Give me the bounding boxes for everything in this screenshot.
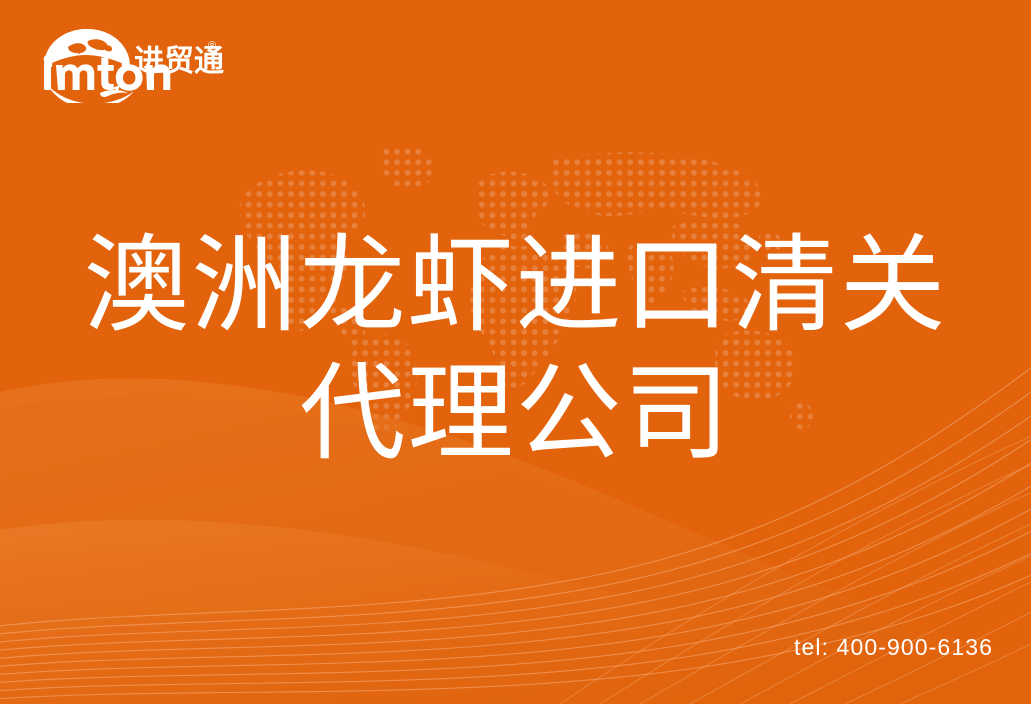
registered-trademark-icon: ®	[208, 41, 216, 52]
imton-logo[interactable]: imton 进贸通 ®	[38, 27, 213, 103]
promo-banner: imton 进贸通 ® 澳洲龙虾进口清关 代理公司 tel: 400-900-6…	[0, 0, 1031, 704]
page-title: 澳洲龙虾进口清关 代理公司	[0, 222, 1031, 478]
headline-line-1: 澳洲龙虾进口清关	[0, 222, 1031, 350]
contact-phone[interactable]: tel: 400-900-6136	[794, 634, 993, 661]
headline-line-2: 代理公司	[0, 350, 1031, 478]
